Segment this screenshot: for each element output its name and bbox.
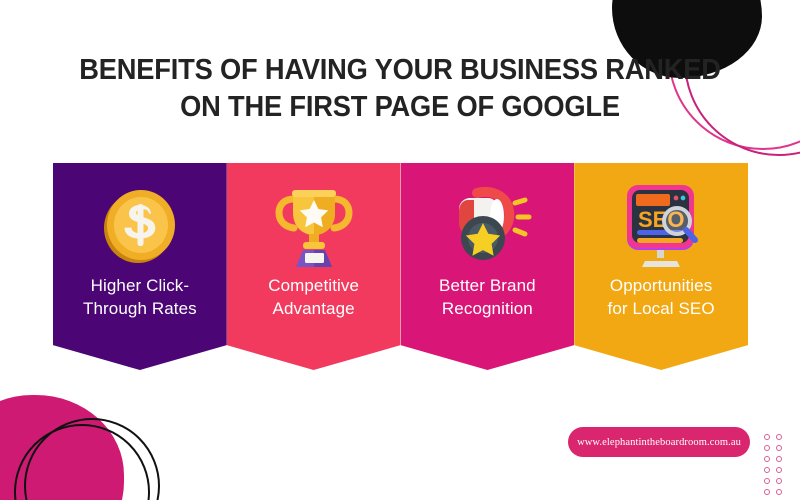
benefit-panel-row: Higher Click- Through Rates xyxy=(53,163,748,370)
grid-dot xyxy=(764,478,770,484)
grid-dot xyxy=(764,489,770,495)
grid-dot xyxy=(776,445,782,451)
website-url-text: www.elephantintheboardroom.com.au xyxy=(577,437,741,448)
benefit-panel-competitive-advantage[interactable]: Competitive Advantage xyxy=(227,163,401,370)
benefit-label-line-2: Recognition xyxy=(442,299,533,318)
grid-dot xyxy=(776,478,782,484)
benefit-panel-label: Higher Click- Through Rates xyxy=(53,275,227,320)
grid-dot xyxy=(776,456,782,462)
black-ring-inner-icon xyxy=(14,424,150,500)
benefit-label-line-2: Through Rates xyxy=(83,299,197,318)
benefit-label-line-1: Higher Click- xyxy=(91,276,190,295)
benefit-label-line-2: Advantage xyxy=(273,299,355,318)
gold-trophy-icon xyxy=(266,179,362,271)
grid-dot xyxy=(764,456,770,462)
benefit-label-line-1: Competitive xyxy=(268,276,359,295)
page-title: BENEFITS OF HAVING YOUR BUSINESS RANKED … xyxy=(24,52,776,126)
grid-dot xyxy=(776,489,782,495)
benefit-panel-opportunities-for-local-seo[interactable]: SEO Opportunities for Local SEO xyxy=(574,163,748,370)
benefit-label-line-1: Better Brand xyxy=(439,276,536,295)
infographic-canvas: BENEFITS OF HAVING YOUR BUSINESS RANKED … xyxy=(0,0,800,500)
grid-dot xyxy=(764,434,770,440)
benefit-panel-label: Opportunities for Local SEO xyxy=(574,275,748,320)
black-ring-outer-icon xyxy=(24,418,160,500)
benefit-panel-label: Competitive Advantage xyxy=(227,275,401,320)
gold-dollar-coin-icon xyxy=(92,179,188,271)
magenta-blob-decoration xyxy=(0,395,124,500)
megaphone-star-icon xyxy=(439,179,535,271)
grid-dot xyxy=(764,467,770,473)
website-url-badge[interactable]: www.elephantintheboardroom.com.au xyxy=(568,427,750,457)
page-title-line-1: BENEFITS OF HAVING YOUR BUSINESS RANKED xyxy=(24,52,776,89)
benefit-panel-better-brand-recognition[interactable]: Better Brand Recognition xyxy=(401,163,575,370)
benefit-label-line-2: for Local SEO xyxy=(608,299,715,318)
benefit-panel-label: Better Brand Recognition xyxy=(401,275,575,320)
seo-monitor-icon: SEO xyxy=(613,179,709,271)
grid-dot xyxy=(764,445,770,451)
dot-grid-decoration xyxy=(764,434,788,500)
page-title-line-2: ON THE FIRST PAGE OF GOOGLE xyxy=(24,89,776,126)
benefit-panel-higher-click-through-rates[interactable]: Higher Click- Through Rates xyxy=(53,163,227,370)
grid-dot xyxy=(776,467,782,473)
benefit-label-line-1: Opportunities xyxy=(610,276,712,295)
grid-dot xyxy=(776,434,782,440)
